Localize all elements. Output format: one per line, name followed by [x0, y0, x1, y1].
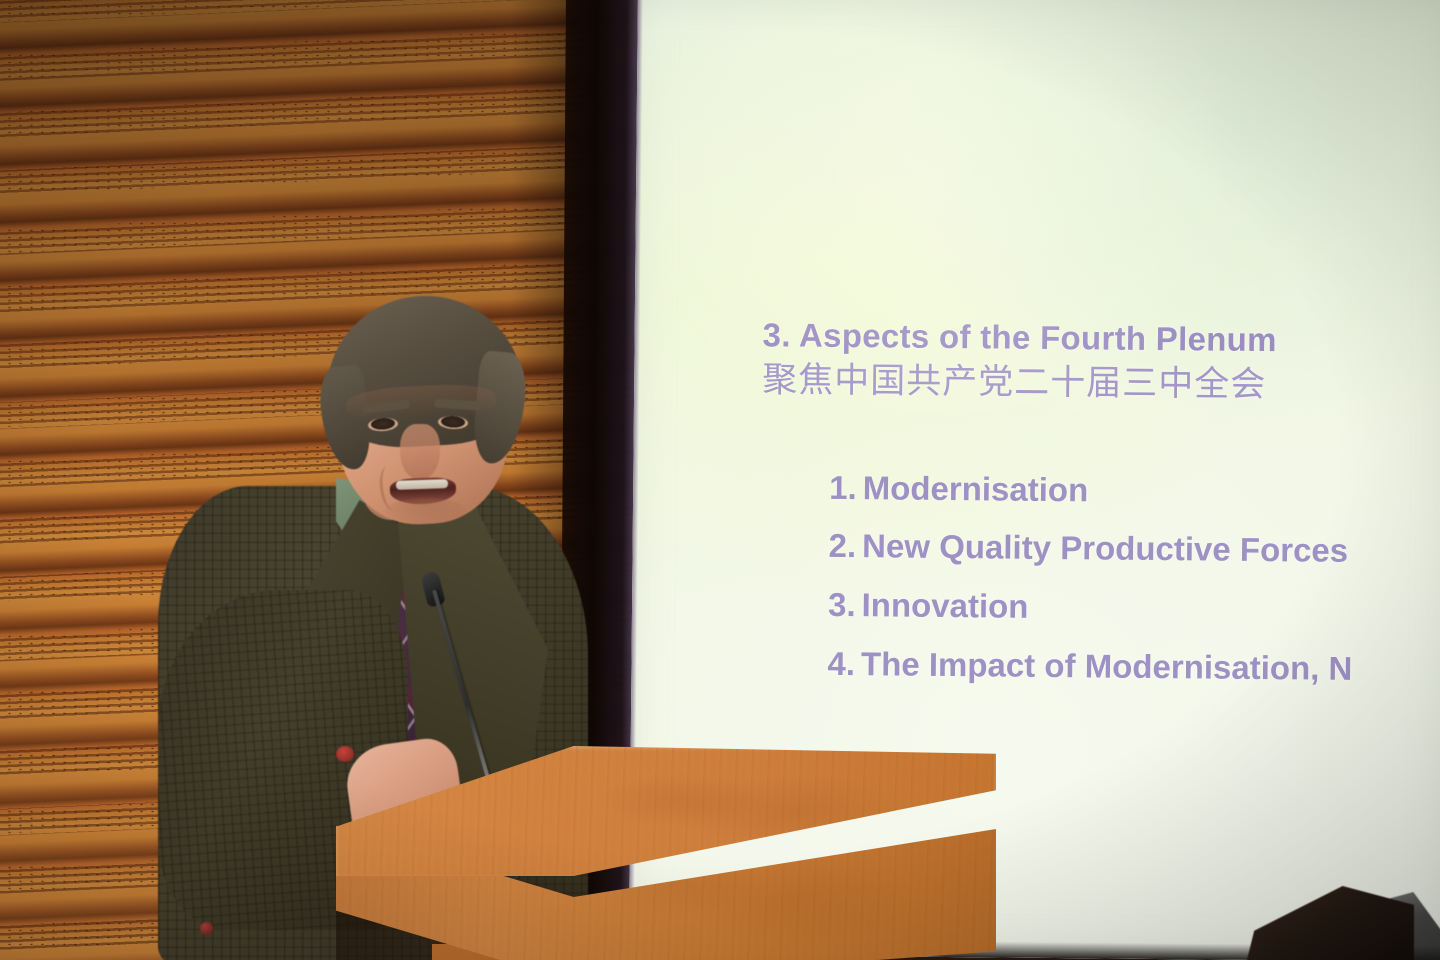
nose — [400, 424, 440, 480]
list-item: 3.Innovation — [828, 576, 1440, 641]
list-item-label: New Quality Productive Forces — [862, 528, 1348, 570]
teeth — [396, 479, 448, 490]
list-item: 2.New Quality Productive Forces — [828, 517, 1440, 582]
presentation-photo-scene: 3. Aspects of the Fourth Plenum 聚焦中国共产党二… — [0, 0, 1440, 960]
laptop-lid — [1244, 886, 1414, 960]
list-item-number: 2. — [828, 527, 856, 564]
slide-content: 3. Aspects of the Fourth Plenum 聚焦中国共产党二… — [759, 317, 1440, 715]
slide-bullet-list: 1.Modernisation 2.New Quality Productive… — [759, 458, 1440, 700]
list-item-label: Modernisation — [863, 469, 1089, 508]
slide-heading-english: 3. Aspects of the Fourth Plenum — [762, 317, 1440, 361]
lectern-podium — [336, 716, 996, 960]
slide-heading-chinese: 聚焦中国共产党二十届三中全会 — [762, 358, 1440, 408]
list-item-number: 1. — [829, 469, 857, 506]
list-item-label: Innovation — [861, 586, 1028, 625]
list-item-number: 4. — [827, 645, 855, 682]
list-item: 4.The Impact of Modernisation, N — [827, 635, 1440, 700]
chin-shading — [386, 498, 466, 524]
list-item-number: 3. — [828, 586, 856, 623]
laptop — [1244, 876, 1440, 960]
jacket-button — [200, 922, 213, 935]
list-item: 1.Modernisation — [829, 459, 1440, 524]
list-item-label: The Impact of Modernisation, N — [861, 645, 1353, 687]
